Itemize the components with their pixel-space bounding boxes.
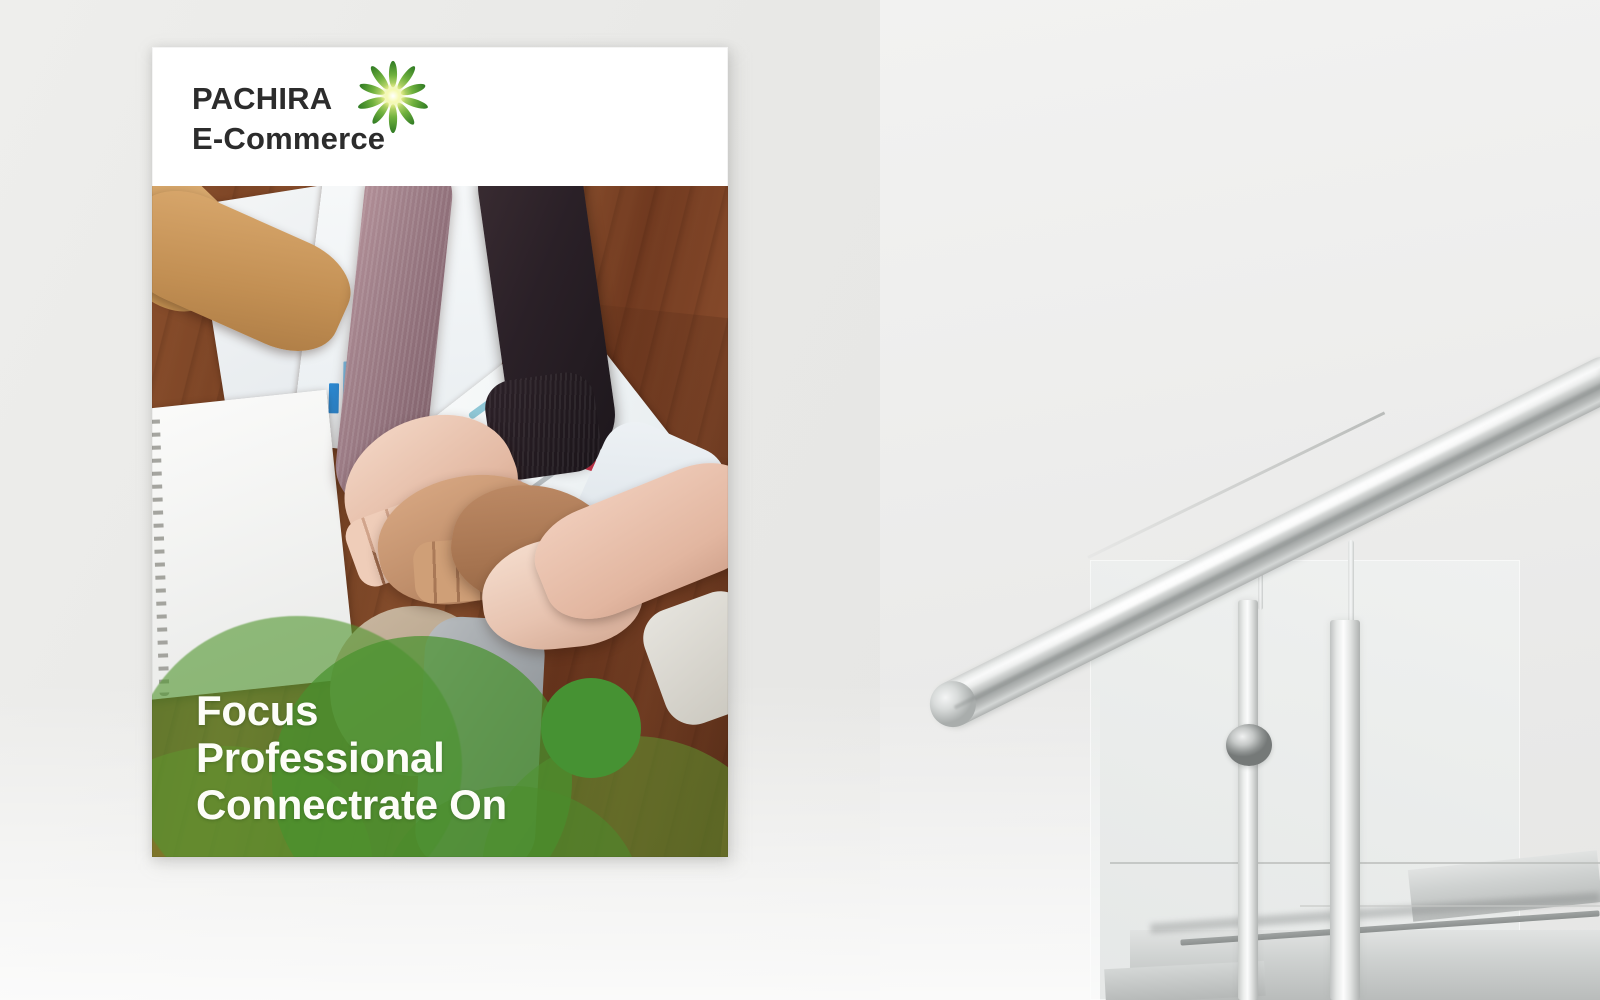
poster-header-band: PACHIRA E-Commerce [152, 47, 728, 186]
headline-line-3: Connectrate On [196, 781, 507, 828]
balustrade-post [1330, 620, 1360, 1000]
post-ball-fitting [1226, 724, 1272, 766]
balustrade-post-rod [1348, 540, 1354, 624]
brochure-poster[interactable]: PACHIRA E-Commerce [152, 47, 728, 857]
balustrade-post [1238, 600, 1258, 1000]
brand-logo: PACHIRA E-Commerce [192, 83, 385, 154]
poster-headline: Focus Professional Connectrate On [196, 687, 507, 828]
headline-line-2: Professional [196, 734, 507, 781]
green-accent-circle [541, 678, 641, 778]
headline-line-1: Focus [196, 687, 507, 734]
cover-photograph: Focus Professional Connectrate On [152, 186, 728, 857]
scene-root: PACHIRA E-Commerce [0, 0, 1600, 1000]
flower-starburst-icon [354, 57, 432, 135]
notebook-spiral-binding [152, 414, 169, 696]
